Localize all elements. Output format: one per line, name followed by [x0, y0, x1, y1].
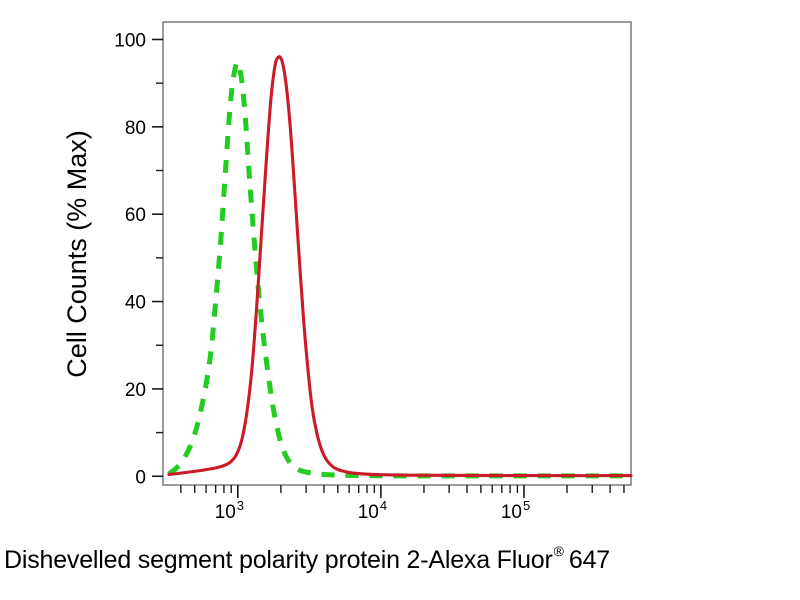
y-tick-label: 60 — [125, 205, 146, 226]
y-tick-label: 40 — [125, 293, 146, 314]
y-tick-label: 20 — [125, 380, 146, 401]
histogram-chart: 020406080100 103104105 Cell Counts (% Ma… — [0, 0, 800, 600]
x-tick-label: 10 — [358, 502, 379, 523]
x-tick-label-exponent: 4 — [380, 498, 387, 513]
y-axis-title: Cell Counts (% Max) — [62, 130, 92, 378]
x-tick-label: 10 — [215, 502, 236, 523]
y-tick-label: 100 — [114, 30, 146, 51]
y-tick-label: 0 — [135, 467, 146, 488]
series-isotype-control-line — [169, 62, 631, 476]
caption-registered-icon: ® — [554, 543, 565, 559]
y-tick-label: 80 — [125, 118, 146, 139]
x-tick-label-exponent: 5 — [523, 498, 530, 513]
caption-suffix-text: 647 — [569, 546, 610, 574]
series-antibody-line — [169, 57, 631, 476]
series-group — [169, 57, 631, 476]
x-axis-tick-labels: 103104105 — [215, 498, 531, 523]
y-axis-ticks — [152, 39, 163, 476]
flow-cytometry-figure: 020406080100 103104105 Cell Counts (% Ma… — [0, 0, 800, 600]
x-tick-label-exponent: 3 — [237, 498, 244, 513]
figure-caption: Dishevelled segment polarity protein 2-A… — [4, 543, 610, 574]
x-tick-label: 10 — [501, 502, 522, 523]
caption-main-text: Dishevelled segment polarity protein 2-A… — [4, 546, 553, 574]
x-axis-ticks — [181, 485, 624, 498]
y-axis-tick-labels: 020406080100 — [114, 30, 146, 488]
